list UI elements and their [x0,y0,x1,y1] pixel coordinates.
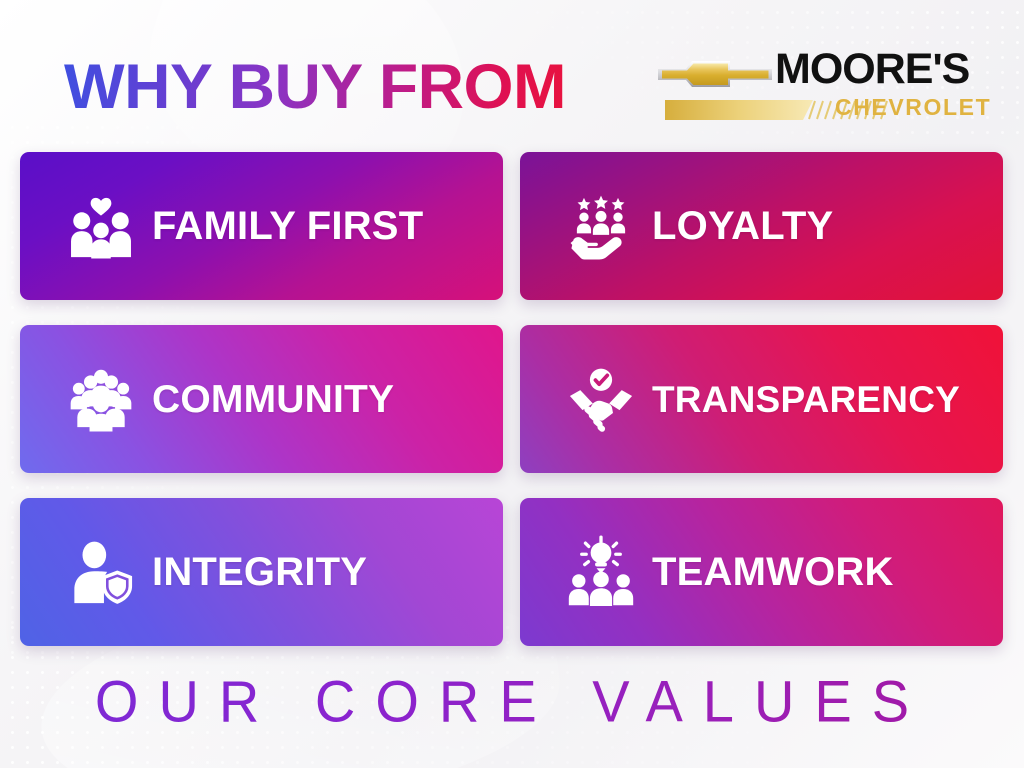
hand-holding-stars-people-icon [564,187,638,265]
value-card-community[interactable]: COMMUNITY [20,325,503,473]
team-lightbulb-icon [564,533,638,611]
footer-tagline: OUR CORE VALUES [0,672,1024,731]
page-title: WHY BUY FROM [64,56,566,119]
value-card-transparency[interactable]: TRANSPARENCY [520,325,1003,473]
value-card-family-first[interactable]: FAMILY FIRST [20,152,503,300]
value-card-label: TRANSPARENCY [652,381,960,418]
value-card-label: TEAMWORK [652,552,894,592]
value-card-loyalty[interactable]: LOYALTY [520,152,1003,300]
value-card-label: FAMILY FIRST [152,206,423,246]
brand-name: MOORE'S [775,48,969,91]
value-card-teamwork[interactable]: TEAMWORK [520,498,1003,646]
poster-canvas: WHY BUY FROM [0,0,1024,768]
core-values-grid: FAMILY FIRST [20,152,1008,647]
family-heart-icon [64,187,138,265]
chevrolet-bowtie-icon [655,54,775,94]
value-card-integrity[interactable]: INTEGRITY [20,498,503,646]
brand-subtitle: CHEVROLET [835,96,991,119]
handshake-check-icon [564,360,638,438]
person-shield-icon [64,533,138,611]
value-card-label: LOYALTY [652,206,833,246]
value-card-label: INTEGRITY [152,552,367,592]
value-card-label: COMMUNITY [152,380,394,419]
group-of-people-icon [64,360,138,438]
header: WHY BUY FROM [0,26,1024,116]
dealer-logo[interactable]: MOORE'S CHEVROLET [655,40,985,130]
